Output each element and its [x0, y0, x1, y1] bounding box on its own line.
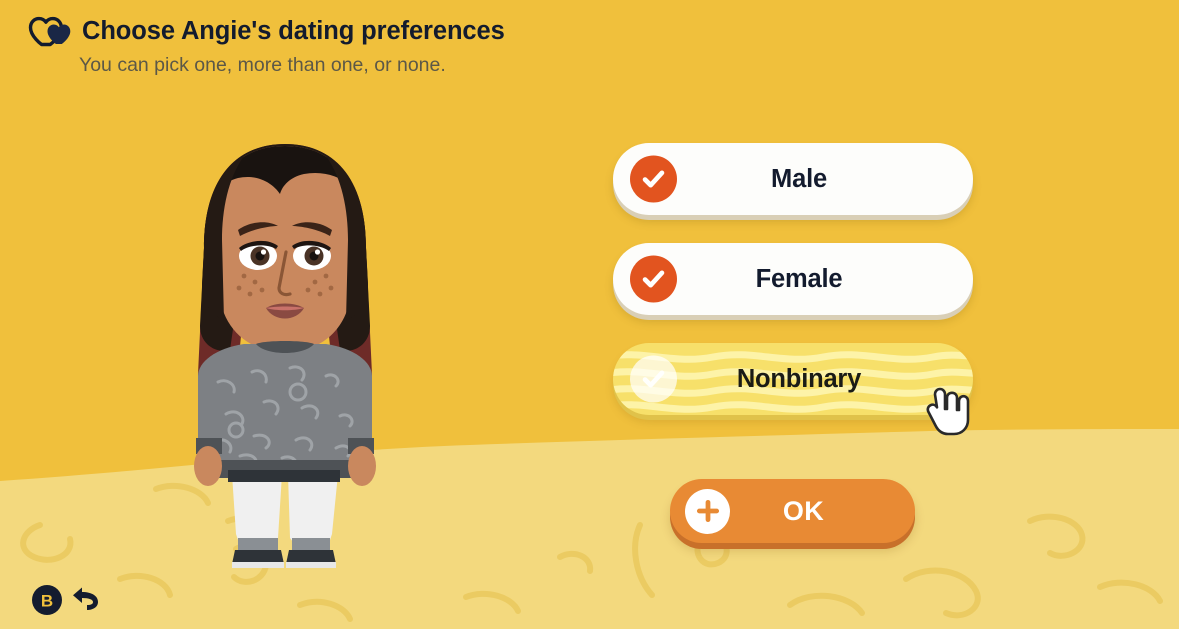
plus-icon: [695, 498, 721, 524]
a-button-glyph: [685, 489, 730, 534]
two-hearts-icon: [28, 14, 72, 48]
header: Choose Angie's dating preferences You ca…: [28, 14, 505, 77]
option-row-male[interactable]: Male: [613, 143, 973, 215]
page-title: Choose Angie's dating preferences: [82, 17, 505, 46]
title-row: Choose Angie's dating preferences: [28, 14, 505, 48]
option-label-male: Male: [613, 165, 973, 194]
page-subtitle: You can pick one, more than one, or none…: [79, 54, 505, 77]
option-row-female[interactable]: Female: [613, 243, 973, 315]
avatar: [140, 130, 430, 570]
svg-text:B: B: [41, 592, 53, 611]
option-label-female: Female: [613, 265, 973, 294]
avatar-illustration: [140, 130, 430, 570]
button-b-icon[interactable]: B: [30, 583, 64, 617]
preference-options: Male Female: [613, 143, 973, 443]
option-label-nonbinary: Nonbinary: [613, 365, 973, 394]
game-screen: Choose Angie's dating preferences You ca…: [0, 0, 1179, 629]
ok-button[interactable]: OK: [670, 479, 915, 543]
bottom-controls: B: [30, 583, 104, 617]
back-arrow-icon[interactable]: [70, 583, 104, 617]
option-row-nonbinary[interactable]: Nonbinary: [613, 343, 973, 415]
